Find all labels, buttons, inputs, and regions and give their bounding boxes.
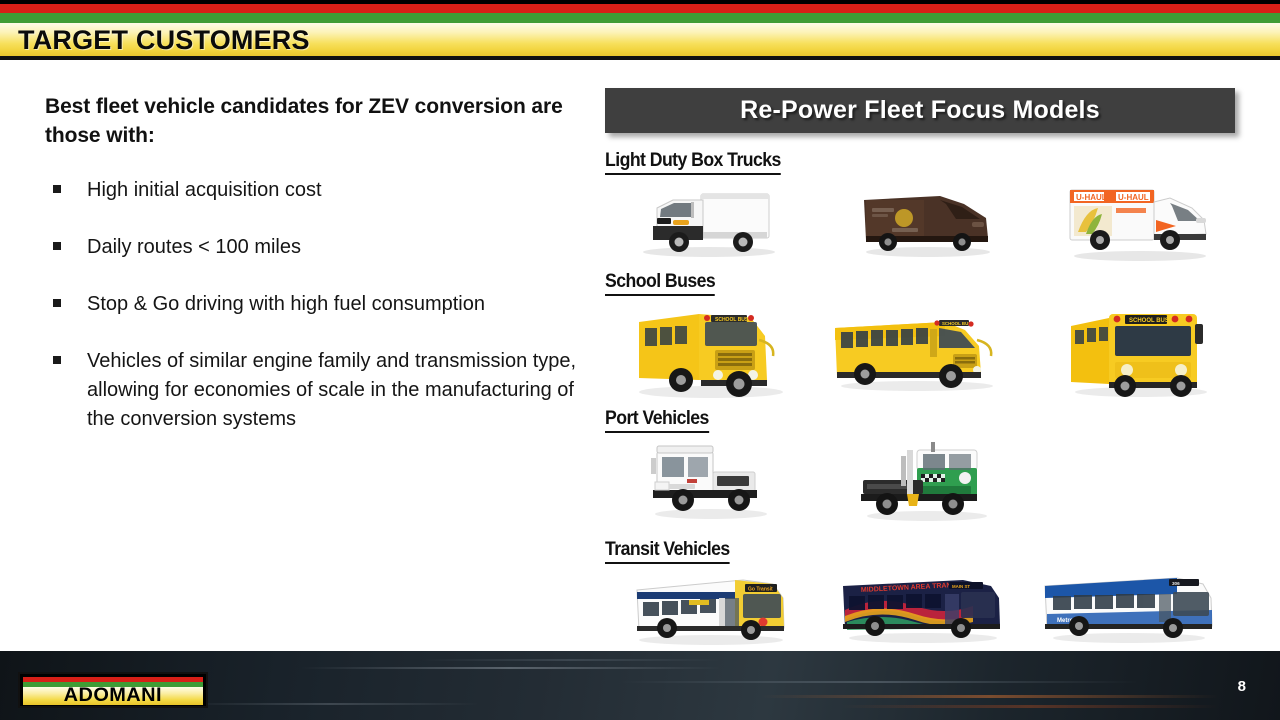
category-school-buses: School Buses [605,271,723,296]
vehicle-white-yellow-transit-bus: Go Transit [623,564,798,653]
list-item-label: Vehicles of similar engine family and tr… [87,350,576,430]
panel-banner-label: Re-Power Fleet Focus Models [740,96,1100,125]
list-item: High initial acquisition cost [45,176,585,205]
svg-text:U-HAUL: U-HAUL [1076,193,1107,202]
vehicle-international-yellow-school-bus: SCHOOL BUS [619,296,794,409]
list-item-label: Daily routes < 100 miles [87,236,301,258]
page-title: TARGET CUSTOMERS [18,24,310,56]
list-item: Daily routes < 100 miles [45,233,585,262]
vehicle-blue-articulated-transit-bus: 306 Metro [1037,564,1222,651]
list-item: Stop & Go driving with high fuel consump… [45,290,585,319]
category-row-school-buses: SCHOOL BUS [605,296,1245,408]
category-label: School Buses [605,271,715,296]
svg-text:306: 306 [1172,581,1180,586]
bullet-square-icon [53,185,61,193]
logo-wordmark: ADOMANI [64,685,162,707]
fleet-focus-panel: Re-Power Fleet Focus Models Light Duty B… [605,88,1245,133]
svg-text:U-HAUL: U-HAUL [1118,193,1149,202]
category-label: Transit Vehicles [605,539,730,564]
vehicle-white-chevrolet-box-truck [627,182,787,265]
category-row-transit-vehicles: Go Transit [605,564,1245,654]
category-light-duty-box-trucks: Light Duty Box Trucks [605,150,794,175]
category-label: Port Vehicles [605,408,709,433]
svg-text:Go Transit: Go Transit [748,587,773,593]
slide: TARGET CUSTOMERS Best fleet vehicle cand… [0,0,1280,720]
category-port-vehicles: Port Vehicles [605,408,717,433]
category-row-box-trucks: U-HAUL U-HAUL [605,176,1245,268]
vehicle-white-terminal-tractor [643,432,778,529]
page-number: 8 [1238,678,1246,695]
header-bottom-rule [0,56,1280,60]
adomani-logo: ADOMANI [18,672,208,708]
svg-text:SCHOOL BUS: SCHOOL BUS [942,321,971,326]
left-content-column: Best fleet vehicle candidates for ZEV co… [45,92,585,462]
category-transit-vehicles: Transit Vehicles [605,539,739,564]
list-item-label: Stop & Go driving with high fuel consump… [87,293,485,315]
logo-yellow-band: ADOMANI [23,687,203,705]
header-red-band [0,4,1280,13]
category-row-port-vehicles [605,432,1245,532]
lead-statement: Best fleet vehicle candidates for ZEV co… [45,92,585,150]
vehicle-bluebird-vision-school-bus: SCHOOL BUS [827,302,1007,401]
category-label: Light Duty Box Trucks [605,150,781,175]
vehicle-middletown-area-transit-bus: MIDDLETOWN AREA TRANSIT MAIN ST [833,566,1013,651]
vehicle-ups-brown-delivery-van [852,178,1002,267]
vehicle-uhaul-box-truck: U-HAUL U-HAUL [1060,176,1220,271]
svg-text:SCHOOL BUS: SCHOOL BUS [1129,318,1169,324]
header-green-band [0,13,1280,23]
list-item-label: High initial acquisition cost [87,179,322,201]
bullet-square-icon [53,242,61,250]
svg-text:MAIN ST: MAIN ST [952,584,970,589]
bullet-square-icon [53,356,61,364]
bullet-list: High initial acquisition cost Daily rout… [45,176,585,434]
vehicle-flat-front-school-bus: SCHOOL BUS [1053,296,1218,407]
svg-text:SCHOOL BUS: SCHOOL BUS [715,317,749,323]
panel-banner: Re-Power Fleet Focus Models [605,88,1235,133]
bullet-square-icon [53,299,61,307]
list-item: Vehicles of similar engine family and tr… [45,347,585,434]
vehicle-green-terminal-tractor [853,436,998,531]
